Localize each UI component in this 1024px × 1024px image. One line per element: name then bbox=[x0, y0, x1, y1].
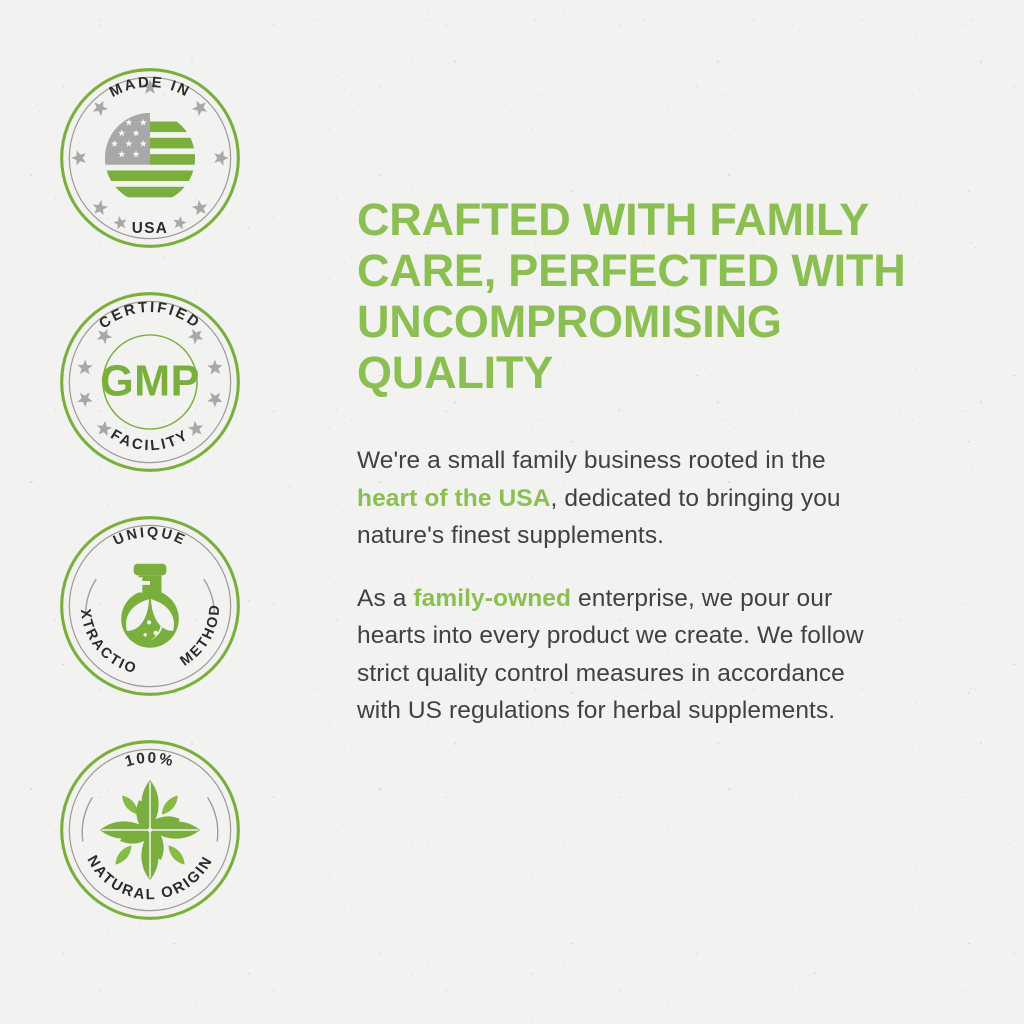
body-paragraph-1: We're a small family business rooted in … bbox=[357, 442, 887, 554]
badge-natural-origin: 100% NATURAL ORIGIN bbox=[54, 734, 246, 926]
badge-bottom-text: FACILITY bbox=[107, 427, 192, 454]
decorative-arc-right bbox=[208, 797, 218, 841]
badge-top-text: CERTIFIED bbox=[96, 300, 203, 333]
badge-top-text: 100% bbox=[123, 750, 176, 771]
content-column: CRAFTED WITH FAMILY CARE, PERFECTED WITH… bbox=[300, 0, 1024, 729]
badge-top-text: MADE IN bbox=[107, 75, 193, 101]
paragraph-2-highlight: family-owned bbox=[413, 585, 571, 612]
badge-unique-extraction-method: UNIQUE EXTRACTION METHOD bbox=[54, 510, 246, 702]
paragraph-1-highlight: heart of the USA bbox=[357, 485, 551, 512]
body-paragraph-2: As a family-owned enterprise, we pour ou… bbox=[357, 580, 887, 729]
gmp-wordmark: GMP bbox=[100, 357, 200, 405]
page-layout: MADE IN USA bbox=[0, 0, 1024, 1024]
badge-made-in-usa: MADE IN USA bbox=[54, 62, 246, 254]
paragraph-1-segment-1: We're a small family business rooted in … bbox=[357, 447, 826, 474]
badge-bottom-text: USA bbox=[132, 220, 168, 237]
badge-right-text: METHOD bbox=[177, 603, 223, 670]
leaf-rosette-icon bbox=[100, 780, 200, 880]
badge-top-text: UNIQUE bbox=[111, 525, 189, 550]
badge-gmp-certified-facility: CERTIFIED GMP FACILITY bbox=[54, 286, 246, 478]
page-headline: CRAFTED WITH FAMILY CARE, PERFECTED WITH… bbox=[357, 195, 914, 398]
flask-with-leaves-icon bbox=[121, 564, 179, 648]
usa-flag-circle-icon bbox=[105, 113, 200, 203]
certification-badge-column: MADE IN USA bbox=[0, 0, 300, 926]
paragraph-2-segment-1: As a bbox=[357, 585, 413, 612]
decorative-arc-left bbox=[82, 797, 92, 841]
